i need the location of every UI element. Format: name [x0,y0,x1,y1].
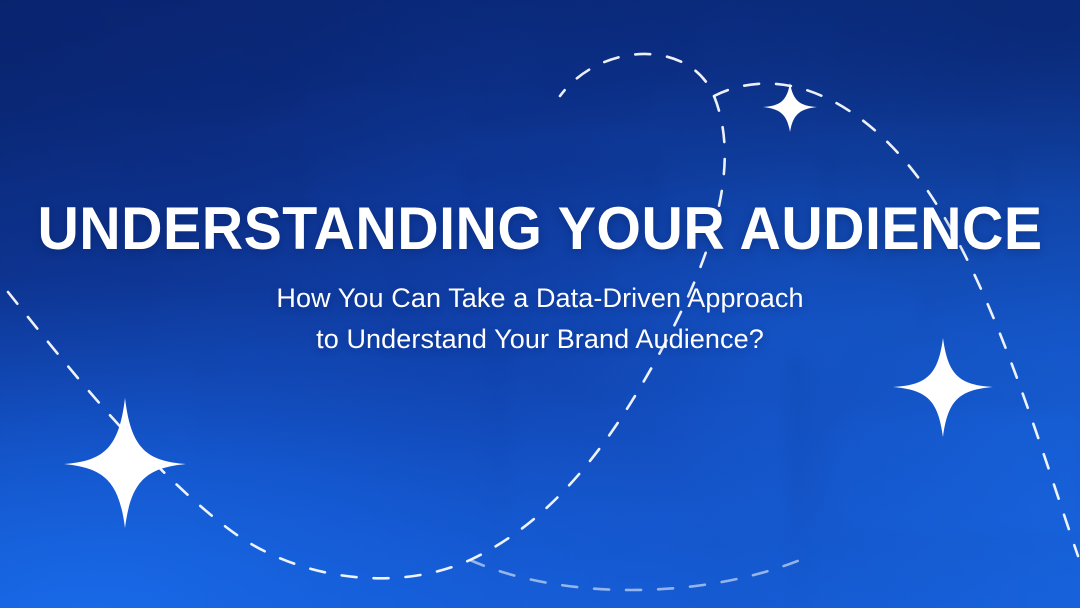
page-subtitle: How You Can Take a Data-Driven Approach … [0,278,1080,360]
subtitle-line-2: to Understand Your Brand Audience? [0,319,1080,360]
page-title: UNDERSTANDING YOUR AUDIENCE [24,198,1055,260]
subtitle-line-1: How You Can Take a Data-Driven Approach [0,278,1080,319]
sparkle-star-large [64,398,186,528]
dashed-curve-path-lower [470,560,800,590]
banner-slide: UNDERSTANDING YOUR AUDIENCE How You Can … [0,0,1080,608]
